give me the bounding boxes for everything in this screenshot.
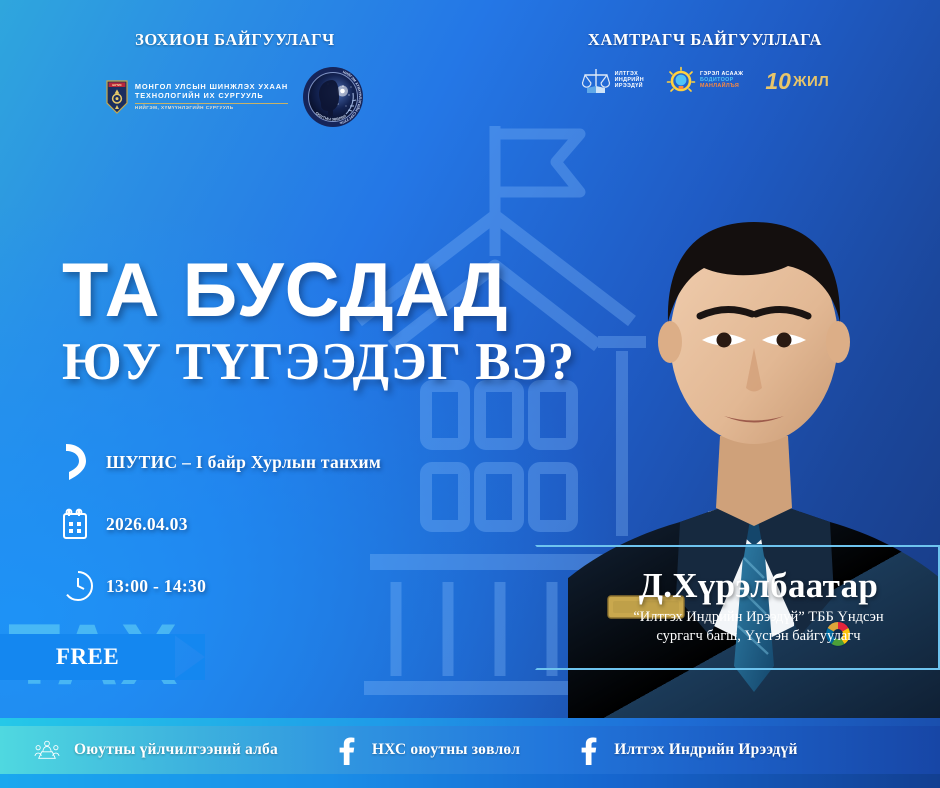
partners-block: ХАМТРАГЧ БАЙГУУЛЛАГА ИЛТГЭХ ИНДРИЙН — [470, 0, 940, 96]
must-line2: ТЕХНОЛОГИЙН ИХ СУРГУУЛЬ — [135, 92, 288, 99]
must-logo-text: МОНГОЛ УЛСЫН ШИНЖЛЭХ УХААН ТЕХНОЛОГИЙН И… — [135, 83, 288, 111]
clock-icon — [62, 570, 106, 602]
partners-title: ХАМТРАГЧ БАЙГУУЛЛАГА — [470, 0, 940, 50]
svg-text:ШУТИС: ШУТИС — [112, 83, 122, 87]
poster-header: ЗОХИОН БАЙГУУЛАГЧ ШУТИС — [0, 0, 940, 140]
iltgeh-indriin-ireedui-logo: ИЛТГЭХ ИНДРИЙН ИРЭЭДҮЙ — [581, 66, 644, 96]
ribbon-tip — [173, 634, 205, 680]
gerel-asaaj-logo: ГЭРЭЛ АСААЖ БОДИТООР МАНЛАЙЛЪЯ — [666, 66, 743, 96]
footer-item-iltgeh-indriin[interactable]: Илтгэх Индрийн Ирээдүй — [574, 735, 797, 765]
meeting-table-icon — [34, 735, 60, 765]
speaker-banner: Д.Хүрэлбаатар “Илтгэх Индрийн Ирээдүй” Т… — [535, 545, 940, 670]
footer-item-student-service[interactable]: Оюутны үйлчилгээний алба — [34, 735, 278, 765]
ten-years-logo: 10 ЖИЛ — [765, 70, 829, 93]
must-crest-icon: ШУТИС — [106, 80, 128, 114]
ten-years-number: 10 — [765, 70, 791, 93]
calendar-icon — [62, 508, 106, 540]
speaker-name: Д.Хүрэлбаатар — [639, 568, 878, 605]
location-pin-icon — [62, 442, 106, 482]
detail-value-location: ШУТИС – I байр Хурлын танхим — [106, 452, 381, 473]
organizer-logos: ШУТИС МОНГОЛ УЛСЫН ШИНЖЛЭХ УХААН ТЕХНОЛО… — [0, 66, 470, 128]
detail-row-date: 2026.04.03 — [62, 498, 381, 550]
speaker-role: “Илтгэх Индрийн Ирээдүй” ТББ Үндсэн сург… — [633, 608, 883, 647]
student-council-emblem-icon: НИЙГЭМ ХҮМҮҮНЛЭГИЙН СУРГУУЛЬ ОЮУТНЫ ЗӨВЛ… — [302, 66, 364, 128]
must-divider — [135, 103, 288, 104]
ten-years-word: ЖИЛ — [793, 74, 829, 89]
facebook-icon — [574, 735, 600, 765]
headline-line-2: ЮУ ТҮГЭЭДЭГ ВЭ? — [62, 335, 622, 389]
podium-book-icon — [581, 66, 611, 96]
footer-top-stripe — [0, 718, 940, 726]
detail-row-time: 13:00 - 14:30 — [62, 560, 381, 612]
partner-2-line3: МАНЛАЙЛЪЯ — [700, 84, 743, 90]
partner-1-line3: ИРЭЭДҮЙ — [615, 84, 644, 90]
headline: ТА БУСДАД ЮУ ТҮГЭЭДЭГ ВЭ? — [62, 255, 622, 389]
footer-label-iltgeh-indriin: Илтгэх Индрийн Ирээдүй — [614, 741, 797, 759]
speaker-banner-content: Д.Хүрэлбаатар “Илтгэх Индрийн Ирээдүй” Т… — [535, 545, 940, 670]
partner-logos: ИЛТГЭХ ИНДРИЙН ИРЭЭДҮЙ — [470, 66, 940, 96]
partner-1-text: ИЛТГЭХ ИНДРИЙН ИРЭЭДҮЙ — [615, 72, 644, 89]
event-poster: ЗОХИОН БАЙГУУЛАГЧ ШУТИС — [0, 0, 940, 788]
ribbon-label: FREE — [0, 634, 175, 680]
footer-bar: Оюутны үйлчилгээний алба НХС оюутны зөвл… — [0, 726, 940, 774]
footer-label-student-service: Оюутны үйлчилгээний алба — [74, 741, 278, 759]
must-line3: НИЙГЭМ, ХҮМҮҮНЛЭГИЙН СУРГУУЛЬ — [135, 106, 288, 111]
event-details: ШУТИС – I байр Хурлын танхим 2026.04.03 — [62, 436, 381, 622]
speaker-role-line-2: сургагч багш, Үүсгэн байгуулагч — [633, 627, 883, 647]
footer-item-nhs-council[interactable]: НХС оюутны зөвлөл — [332, 735, 520, 765]
speaker-role-line-1: “Илтгэх Индрийн Ирээдүй” ТББ Үндсэн — [633, 608, 883, 628]
organizer-title: ЗОХИОН БАЙГУУЛАГЧ — [0, 0, 470, 50]
partner-2-text: ГЭРЭЛ АСААЖ БОДИТООР МАНЛАЙЛЪЯ — [700, 72, 743, 89]
footer-label-nhs-council: НХС оюутны зөвлөл — [372, 741, 520, 759]
must-logo: ШУТИС МОНГОЛ УЛСЫН ШИНЖЛЭХ УХААН ТЕХНОЛО… — [106, 80, 288, 114]
detail-value-time: 13:00 - 14:30 — [106, 576, 206, 597]
detail-row-location: ШУТИС – I байр Хурлын танхим — [62, 436, 381, 488]
footer-bottom-stripe — [0, 774, 940, 788]
facebook-icon — [332, 735, 358, 765]
organizer-block: ЗОХИОН БАЙГУУЛАГЧ ШУТИС — [0, 0, 470, 128]
must-line1: МОНГОЛ УЛСЫН ШИНЖЛЭХ УХААН — [135, 83, 288, 90]
headline-line-1: ТА БУСДАД — [62, 255, 622, 328]
detail-value-date: 2026.04.03 — [106, 514, 188, 535]
lightbulb-sun-icon — [666, 66, 696, 96]
free-ribbon: FREE — [0, 634, 205, 680]
